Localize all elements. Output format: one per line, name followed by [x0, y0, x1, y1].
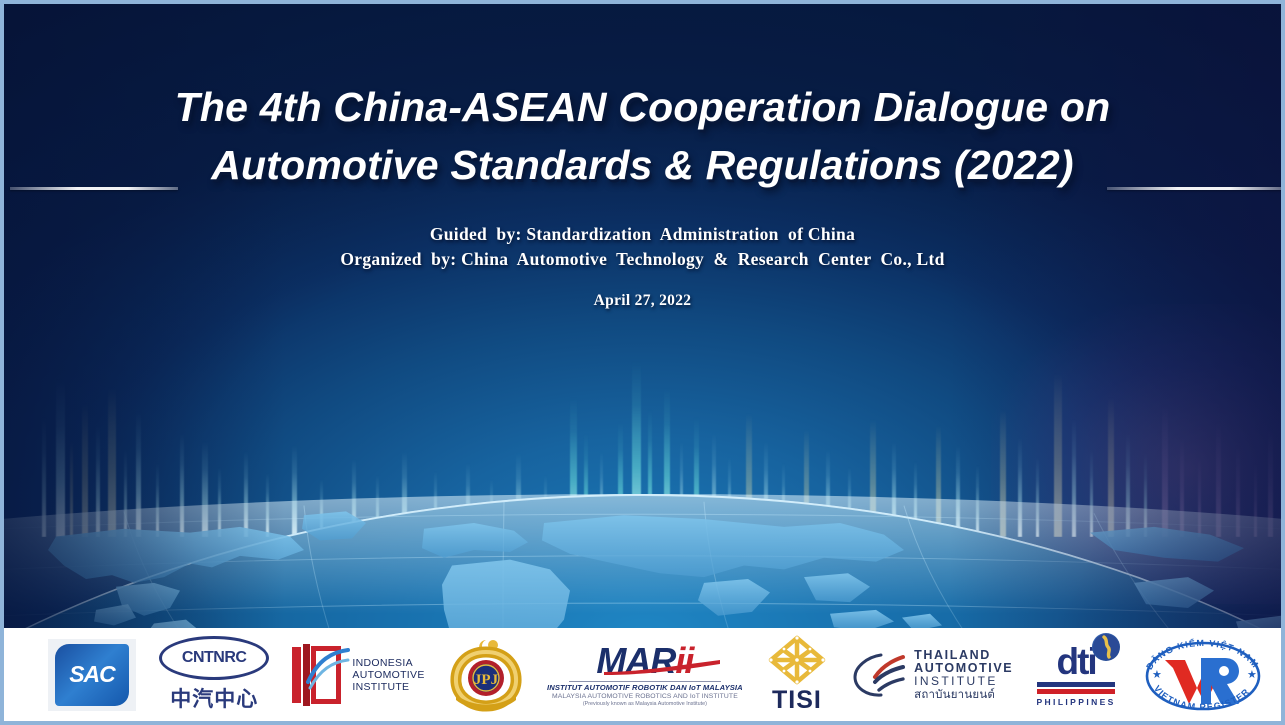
marii-tagline-en: MALAYSIA AUTOMOTIVE ROBOTICS AND IoT INS…: [552, 693, 738, 700]
light-streak: [664, 387, 670, 537]
light-streak: [1054, 373, 1062, 537]
light-streak: [70, 441, 73, 537]
light-streak: [618, 421, 623, 537]
light-streak: [956, 445, 960, 537]
light-streak: [320, 479, 323, 537]
light-streak: [1018, 437, 1022, 537]
marii-tagline-ms: INSTITUT AUTOMOTIF ROBOTIK DAN IoT MALAY…: [547, 683, 743, 692]
light-streak: [728, 457, 731, 537]
marii-swoosh-icon: [602, 659, 722, 675]
light-streak: [56, 379, 65, 537]
light-streak: [680, 441, 683, 537]
title-line-1: The 4th China-ASEAN Cooperation Dialogue…: [175, 84, 1111, 130]
light-streak: [892, 441, 896, 537]
title-slide: The 4th China-ASEAN Cooperation Dialogue…: [0, 0, 1285, 725]
dti-wordmark: dti: [1057, 643, 1096, 681]
title-line-2: Automotive Standards & Regulations (2022…: [64, 136, 1221, 194]
light-streak: [466, 463, 470, 537]
light-streak: [570, 397, 577, 537]
tai-line-2: AUTOMOTIVE: [914, 662, 1013, 675]
tai-line-1: THAILAND: [914, 649, 1013, 662]
light-streak: [976, 465, 979, 537]
light-streak: [764, 441, 768, 537]
partner-logo-bar: SAC CNTNRC 中汽中心: [4, 628, 1281, 721]
light-streak: [870, 419, 876, 537]
light-streak: [1090, 449, 1093, 537]
iai-line-2: AUTOMOTIVE: [352, 669, 424, 681]
light-streak: [1198, 457, 1201, 537]
marii-tagline-note: (Previously known as Malaysia Automotive…: [583, 701, 707, 707]
light-streak: [584, 433, 588, 537]
svg-text:★: ★: [1152, 669, 1162, 681]
light-streak: [266, 473, 269, 537]
logo-thailand-automotive-institute: THAILAND AUTOMOTIVE INSTITUTE สถาบันยานย…: [851, 635, 1013, 715]
light-streak: [136, 411, 141, 537]
light-streak: [936, 425, 941, 537]
event-date: April 27, 2022: [4, 292, 1281, 310]
logo-jpj-malaysia: JPJ: [448, 635, 524, 715]
dti-subtext: PHILIPPINES: [1036, 697, 1115, 707]
globe-sheen: [4, 494, 1281, 614]
slide-background: The 4th China-ASEAN Cooperation Dialogue…: [4, 4, 1281, 721]
light-streak: [746, 413, 752, 537]
light-streak: [694, 417, 699, 537]
light-streak: [124, 449, 127, 537]
tai-line-4-thai: สถาบันยานยนต์: [914, 688, 1013, 701]
iai-emblem-icon: [292, 644, 346, 706]
light-streak: [914, 461, 917, 537]
guided-by-line: Guided by: Standardization Administratio…: [4, 222, 1281, 247]
light-streak: [648, 409, 652, 537]
jpj-crest-icon: JPJ: [448, 638, 524, 712]
page-title: The 4th China-ASEAN Cooperation Dialogue…: [4, 78, 1281, 194]
light-streak: [782, 463, 785, 537]
light-streak: [180, 433, 184, 537]
tisi-emblem-icon: [766, 635, 828, 685]
light-streak: [202, 441, 208, 537]
logo-tisi: TISI: [766, 635, 828, 715]
marii-wordmark: MARii: [596, 643, 693, 679]
light-streak: [1126, 433, 1130, 537]
light-streak: [108, 387, 116, 537]
logo-dti-philippines: dti PHILIPPINES: [1036, 635, 1115, 715]
light-streak: [156, 463, 159, 537]
light-streak: [826, 449, 830, 537]
light-streak: [376, 475, 379, 537]
tai-line-3: INSTITUTE: [914, 675, 1013, 688]
light-streak: [1144, 453, 1147, 537]
svg-text:JPJ: JPJ: [474, 672, 499, 688]
light-streak: [712, 433, 716, 537]
light-streak: [1162, 405, 1168, 537]
logo-vietnam-register: ĐĂNG KIỂM VIỆT NAM VIETNAM REGISTER ★ ★: [1139, 635, 1267, 715]
tisi-wordmark: TISI: [772, 686, 822, 715]
sac-wordmark: SAC: [55, 644, 129, 706]
logo-catarc: CNTNRC 中汽中心: [159, 635, 269, 715]
light-streak: [632, 361, 641, 537]
light-streak: [600, 451, 603, 537]
logo-marii: MARii INSTITUT AUTOMOTIF ROBOTIK DAN IoT…: [547, 635, 743, 715]
catarc-wordmark: CNTNRC: [159, 636, 269, 680]
light-streak: [244, 451, 248, 537]
logo-sac: SAC: [48, 635, 136, 715]
light-streak: [1036, 457, 1039, 537]
light-streak: [516, 453, 521, 537]
subtitle-block: Guided by: Standardization Administratio…: [4, 222, 1281, 272]
light-streak: [490, 479, 493, 537]
light-streaks: [4, 322, 1281, 537]
light-streak: [42, 417, 46, 537]
vietnam-register-emblem-icon: ĐĂNG KIỂM VIỆT NAM VIETNAM REGISTER ★ ★: [1139, 638, 1267, 712]
light-streak: [804, 429, 809, 537]
light-streak: [1180, 437, 1184, 537]
light-streak: [1236, 445, 1240, 537]
light-streak: [402, 451, 407, 537]
light-streak: [96, 425, 100, 537]
light-streak: [1254, 463, 1257, 537]
light-streak: [352, 459, 356, 537]
light-streak: [218, 467, 221, 537]
catarc-chinese-name: 中汽中心: [170, 683, 258, 713]
light-streak: [1072, 419, 1076, 537]
light-streak: [1216, 421, 1221, 537]
iai-line-3: INSTITUTE: [352, 681, 424, 693]
light-streak: [1268, 429, 1273, 537]
svg-text:★: ★: [1247, 669, 1257, 681]
light-streak: [434, 471, 437, 537]
dti-globe-icon: [1092, 633, 1120, 661]
iai-line-1: INDONESIA: [352, 657, 424, 669]
light-streak: [848, 467, 851, 537]
logo-indonesia-automotive-institute: INDONESIA AUTOMOTIVE INSTITUTE: [292, 635, 424, 715]
light-streak: [544, 475, 547, 537]
light-streak: [1108, 397, 1114, 537]
sac-plate: SAC: [48, 639, 136, 711]
light-streak: [292, 445, 297, 537]
light-streak: [82, 403, 88, 537]
tai-swoosh-icon: [851, 649, 907, 701]
organized-by-line: Organized by: China Automotive Technolog…: [4, 247, 1281, 272]
right-glow: [991, 304, 1281, 604]
light-streak: [1000, 409, 1006, 537]
